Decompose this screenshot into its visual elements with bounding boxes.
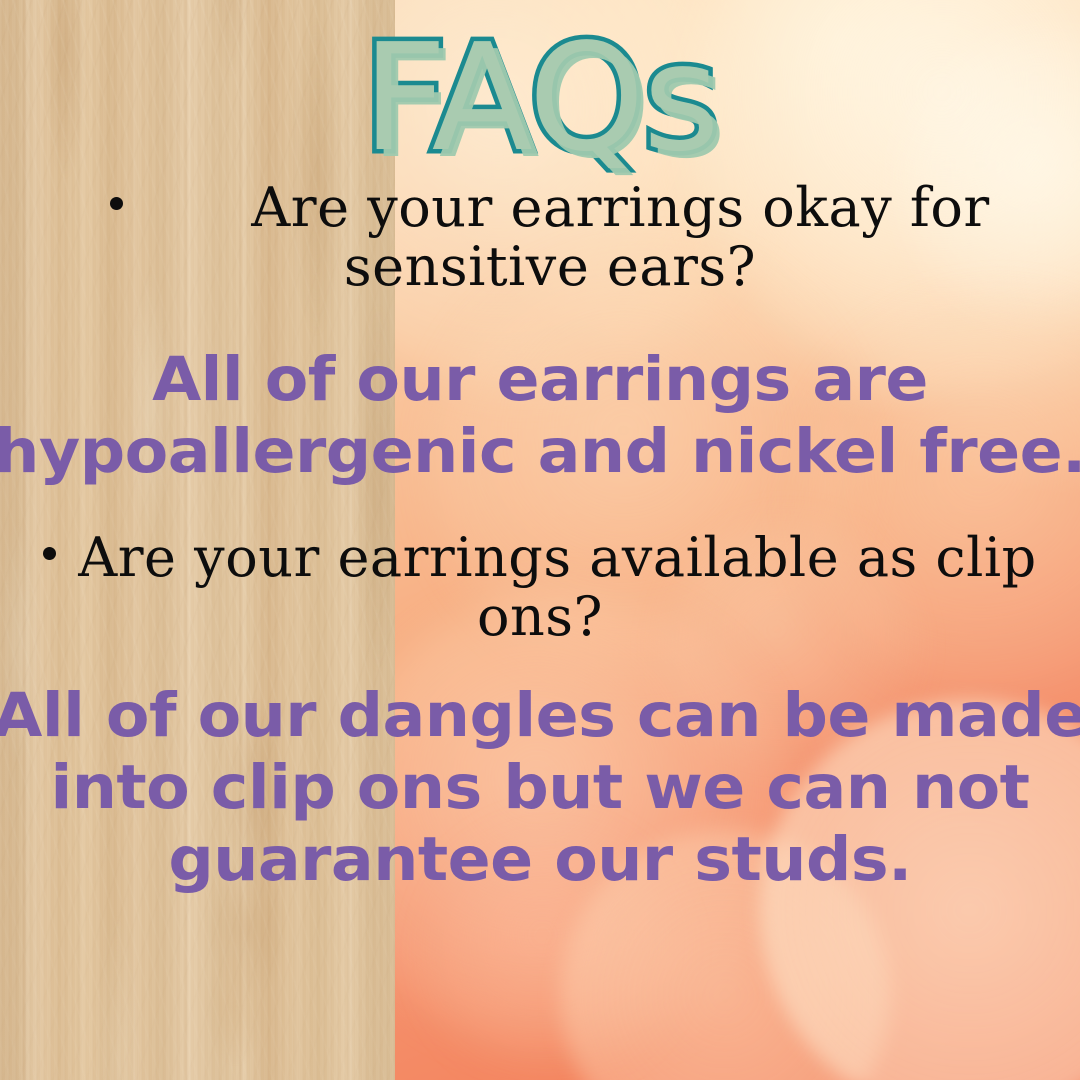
faq-question-2-line-2: ons?: [0, 587, 1080, 646]
bullet-icon: [43, 547, 56, 560]
faq-answer-1-line-1: All of our earrings are: [0, 344, 1080, 416]
poster-content: FAQs Are your earrings okay for sensitiv…: [0, 0, 1080, 1080]
faq-poster: FAQs Are your earrings okay for sensitiv…: [0, 0, 1080, 1080]
faq-question-2-text-1: Are your earrings available as clip: [78, 526, 1037, 589]
faq-item-2: Are your earrings available as clip ons?…: [0, 488, 1080, 896]
faq-answer-1-line-2: hypoallergenic and nickel free.: [0, 416, 1080, 488]
faq-answer-2-line-3: guarantee our studs.: [0, 824, 1080, 896]
faq-question-1-line-1: Are your earrings okay for: [20, 178, 1080, 237]
faq-answer-2-line-2: into clip ons but we can not: [0, 752, 1080, 824]
faq-question-2-line-1: Are your earrings available as clip: [0, 528, 1080, 587]
faq-question-1-text-1: Are your earrings okay for: [251, 176, 989, 239]
faq-answer-2-line-1: All of our dangles can be made: [0, 680, 1080, 752]
bullet-icon: [110, 197, 123, 210]
faq-answer-2: All of our dangles can be made into clip…: [0, 680, 1080, 896]
faq-item-1: Are your earrings okay for sensitive ear…: [0, 178, 1080, 488]
faq-question-1: Are your earrings okay for sensitive ear…: [0, 178, 1080, 296]
page-title: FAQs: [362, 24, 718, 172]
faq-question-2: Are your earrings available as clip ons?: [0, 528, 1080, 646]
faq-question-1-line-2: sensitive ears?: [20, 237, 1080, 296]
faq-answer-1: All of our earrings are hypoallergenic a…: [0, 344, 1080, 488]
